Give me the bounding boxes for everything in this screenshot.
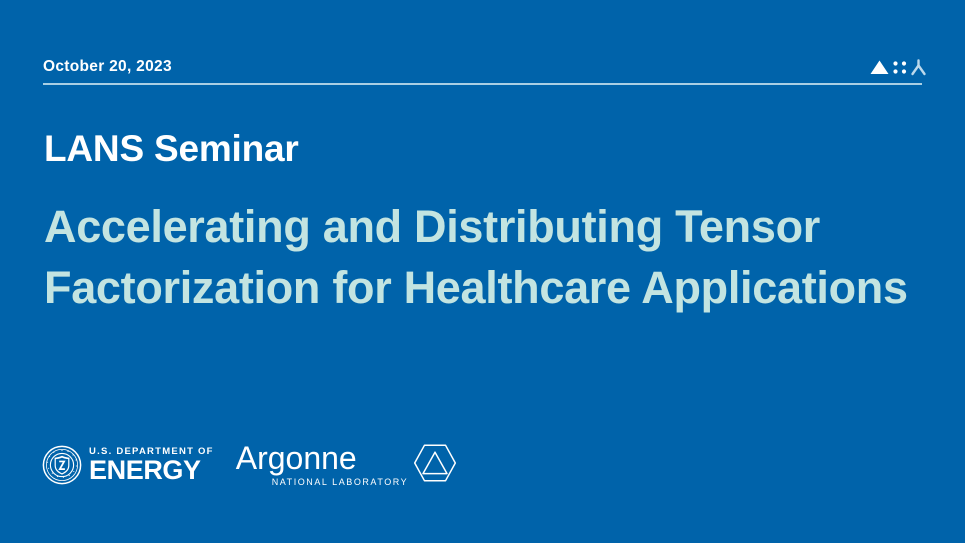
person-icon: [913, 61, 925, 75]
seminar-series-title: LANS Seminar: [44, 128, 299, 170]
argonne-wordmark: Argonne: [236, 442, 408, 475]
doe-logo: U.S. DEPARTMENT OF ENERGY: [42, 441, 214, 489]
doe-seal-icon: [42, 445, 82, 485]
header-decorative-marks: [869, 57, 929, 79]
title-slide: October 20, 2023: [0, 0, 965, 543]
doe-energy-wordmark: ENERGY: [89, 457, 214, 484]
slide-date: October 20, 2023: [43, 58, 172, 76]
logo-row: U.S. DEPARTMENT OF ENERGY Argonne NATION…: [42, 437, 457, 493]
argonne-logo: Argonne NATIONAL LABORATORY: [236, 438, 457, 492]
slide-header: October 20, 2023: [43, 58, 922, 88]
argonne-text: Argonne NATIONAL LABORATORY: [236, 442, 408, 488]
argonne-tagline: NATIONAL LABORATORY: [272, 476, 408, 488]
triangle-icon: [871, 61, 889, 75]
header-divider: [43, 83, 922, 85]
argonne-hexagon-icon: [413, 443, 457, 483]
dots-icon: [893, 61, 906, 73]
doe-wordmark: U.S. DEPARTMENT OF ENERGY: [89, 446, 214, 484]
presentation-title: Accelerating and Distributing Tensor Fac…: [44, 196, 924, 318]
